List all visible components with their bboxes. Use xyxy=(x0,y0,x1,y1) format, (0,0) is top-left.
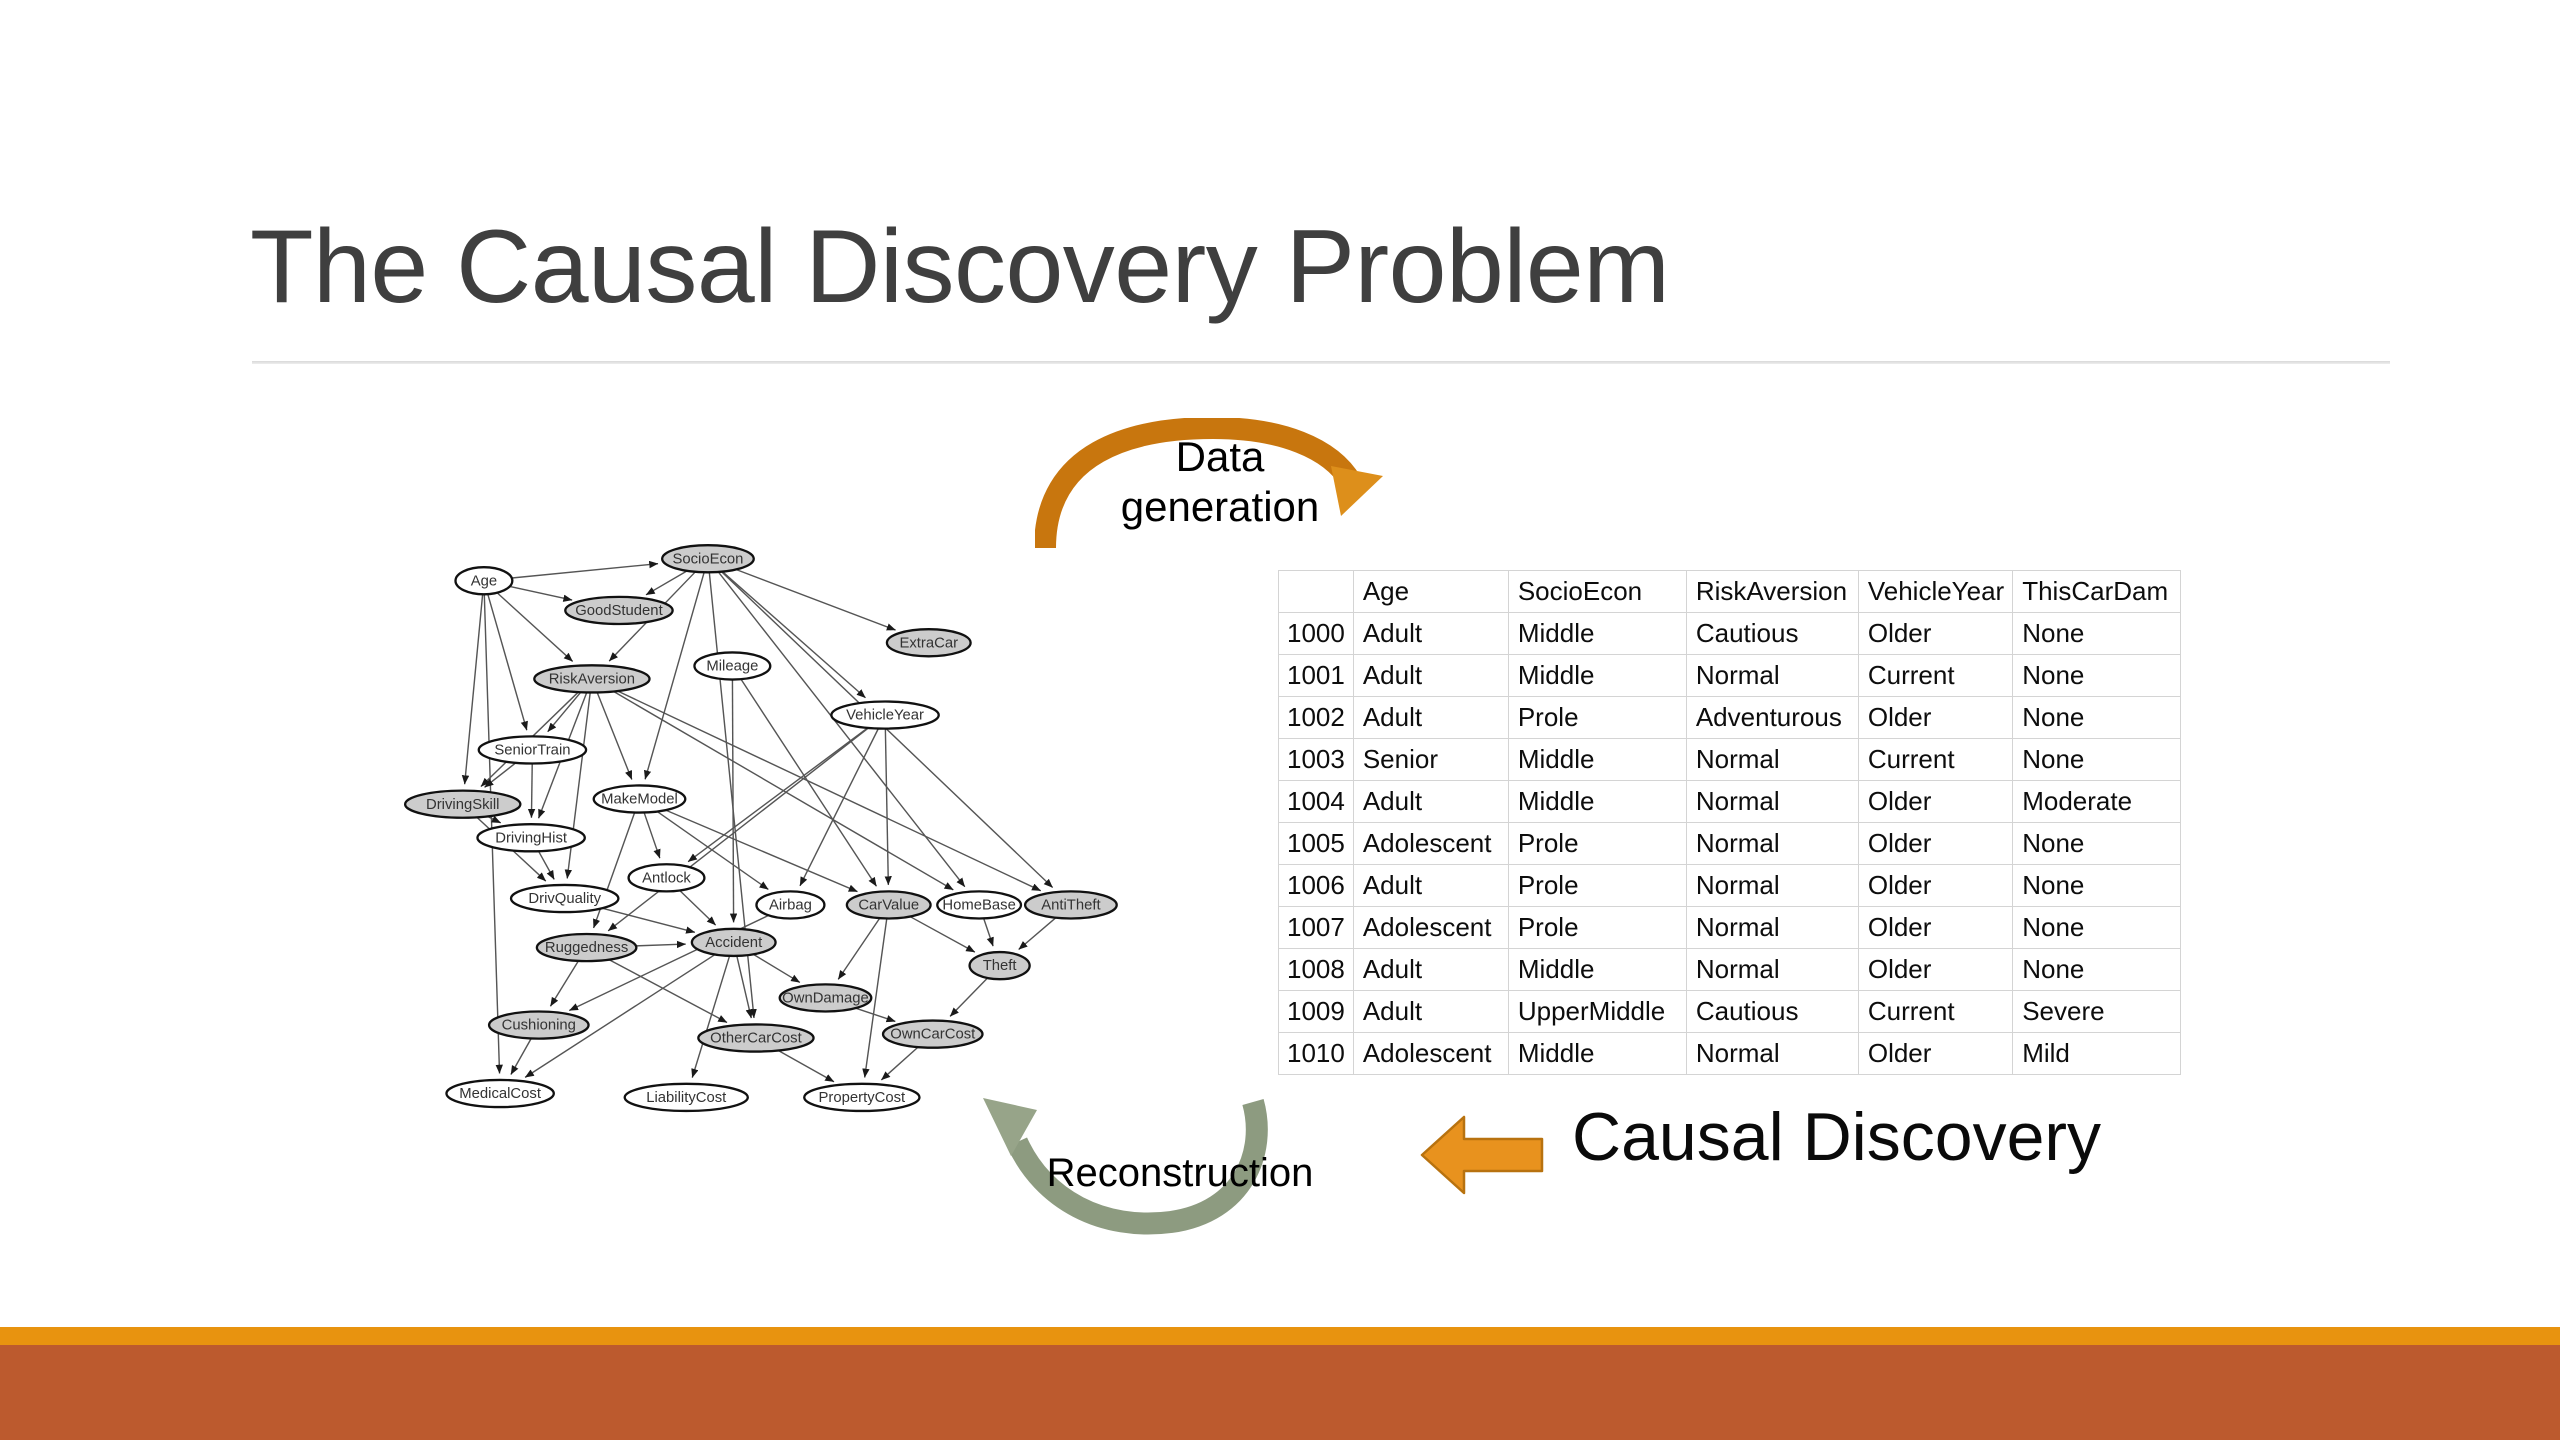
cell-age: Adolescent xyxy=(1353,823,1508,865)
cell-socioecon: Middle xyxy=(1508,781,1686,823)
graph-node-owndamage: OwnDamage xyxy=(780,984,872,1011)
title-underline-rule xyxy=(252,361,2390,364)
cell-vehicleyear: Older xyxy=(1858,781,2012,823)
graph-node-accident: Accident xyxy=(692,929,776,956)
left-block-arrow-icon xyxy=(1418,1113,1548,1198)
left-block-arrow-svg xyxy=(1418,1113,1548,1198)
column-header-index xyxy=(1279,571,1354,613)
cell-vehicleyear: Older xyxy=(1858,907,2012,949)
node-label: LiabilityCost xyxy=(646,1090,727,1106)
cell-age: Adult xyxy=(1353,949,1508,991)
graph-node-carvalue: CarValue xyxy=(847,891,931,918)
cell-vehicleyear: Older xyxy=(1858,697,2012,739)
node-label: SocioEcon xyxy=(672,551,743,567)
graph-edge xyxy=(736,569,896,630)
cell-vehicleyear: Older xyxy=(1858,613,2012,655)
table-row: 1003SeniorMiddleNormalCurrentNone xyxy=(1279,739,2181,781)
column-header-age: Age xyxy=(1353,571,1508,613)
cell-vehicleyear: Current xyxy=(1858,739,2012,781)
cell-thiscardam: Mild xyxy=(2013,1033,2181,1075)
row-index-cell: 1008 xyxy=(1279,949,1354,991)
column-header-riskaversion: RiskAversion xyxy=(1686,571,1858,613)
graph-edge xyxy=(602,908,695,932)
graph-edge xyxy=(548,692,581,732)
slide-canvas: The Causal Discovery Problem SocioEconAg… xyxy=(0,0,2560,1440)
graph-node-ruggedness: Ruggedness xyxy=(537,934,636,961)
cell-socioecon: Prole xyxy=(1508,865,1686,907)
cell-age: Adult xyxy=(1353,865,1508,907)
node-label: VehicleYear xyxy=(846,708,924,724)
graph-node-drivingskill: DrivingSkill xyxy=(405,791,520,818)
node-label: DrivingSkill xyxy=(426,797,499,813)
page-title: The Causal Discovery Problem xyxy=(250,208,1669,327)
cell-age: Adult xyxy=(1353,613,1508,655)
graph-edge xyxy=(550,961,578,1006)
cell-riskaversion: Normal xyxy=(1686,949,1858,991)
graph-edge xyxy=(732,680,733,923)
graph-edge xyxy=(680,890,716,925)
graph-edge xyxy=(753,954,799,982)
cell-thiscardam: None xyxy=(2013,739,2181,781)
node-label: RiskAversion xyxy=(549,671,635,687)
graph-node-antilock: Antlock xyxy=(629,864,705,891)
table-row: 1001AdultMiddleNormalCurrentNone xyxy=(1279,655,2181,697)
graph-node-extracar: ExtraCar xyxy=(887,629,971,656)
graph-node-mileage: Mileage xyxy=(694,652,770,679)
cell-age: Adult xyxy=(1353,655,1508,697)
cell-thiscardam: None xyxy=(2013,655,2181,697)
node-label: OwnCarCost xyxy=(890,1027,976,1043)
cell-socioecon: Prole xyxy=(1508,907,1686,949)
graph-edge xyxy=(1019,918,1056,950)
cell-age: Adult xyxy=(1353,991,1508,1033)
node-label: Airbag xyxy=(769,898,812,914)
node-label: MedicalCost xyxy=(459,1086,542,1102)
node-label: Ruggedness xyxy=(545,940,628,956)
graph-edge xyxy=(488,816,501,822)
graph-edge xyxy=(597,692,632,779)
cell-thiscardam: None xyxy=(2013,613,2181,655)
graph-node-homebase: HomeBase xyxy=(937,891,1021,918)
graph-edge xyxy=(856,1008,896,1021)
cell-socioecon: Middle xyxy=(1508,949,1686,991)
cell-socioecon: Prole xyxy=(1508,823,1686,865)
table-body: 1000AdultMiddleCautiousOlderNone1001Adul… xyxy=(1279,613,2181,1075)
row-index-cell: 1001 xyxy=(1279,655,1354,697)
node-label: MakeModel xyxy=(601,792,678,808)
node-label: DrivQuality xyxy=(528,891,601,907)
graph-node-owncarcost: OwnCarCost xyxy=(883,1021,982,1048)
node-label: Age xyxy=(471,573,497,589)
node-label: AntiTheft xyxy=(1041,898,1101,914)
node-label: OtherCarCost xyxy=(710,1031,802,1047)
table-row: 1009AdultUpperMiddleCautiousCurrentSever… xyxy=(1279,991,2181,1033)
table-row: 1000AdultMiddleCautiousOlderNone xyxy=(1279,613,2181,655)
graph-edge xyxy=(567,692,590,878)
graph-edge xyxy=(644,812,660,858)
graph-node-theft: Theft xyxy=(970,952,1030,979)
generated-data-table: Age SocioEcon RiskAversion VehicleYear T… xyxy=(1278,570,2181,1075)
cell-vehicleyear: Current xyxy=(1858,991,2012,1033)
cell-riskaversion: Normal xyxy=(1686,655,1858,697)
graph-node-age: Age xyxy=(456,567,513,594)
node-label: OwnDamage xyxy=(782,991,869,1007)
cell-thiscardam: None xyxy=(2013,907,2181,949)
node-label: Theft xyxy=(983,958,1018,974)
cell-socioecon: Middle xyxy=(1508,1033,1686,1075)
table-row: 1008AdultMiddleNormalOlderNone xyxy=(1279,949,2181,991)
cell-riskaversion: Normal xyxy=(1686,1033,1858,1075)
table-row: 1004AdultMiddleNormalOlderModerate xyxy=(1279,781,2181,823)
node-label: Accident xyxy=(705,935,763,951)
table-row: 1005AdolescentProleNormalOlderNone xyxy=(1279,823,2181,865)
row-index-cell: 1006 xyxy=(1279,865,1354,907)
row-index-cell: 1010 xyxy=(1279,1033,1354,1075)
graph-node-layer: SocioEconAgeGoodStudentExtraCarRiskAvers… xyxy=(405,545,1117,1111)
node-label: ExtraCar xyxy=(899,635,958,651)
table-row: 1007AdolescentProleNormalOlderNone xyxy=(1279,907,2181,949)
cell-riskaversion: Normal xyxy=(1686,781,1858,823)
cell-age: Adult xyxy=(1353,781,1508,823)
graph-node-seniortrain: SeniorTrain xyxy=(479,736,586,763)
cell-riskaversion: Normal xyxy=(1686,823,1858,865)
graph-node-makemodel: MakeModel xyxy=(594,785,686,812)
cell-riskaversion: Normal xyxy=(1686,907,1858,949)
graph-edge xyxy=(838,918,879,979)
footer-band-orange xyxy=(0,1327,2560,1345)
graph-edge xyxy=(531,764,532,818)
graph-edge xyxy=(618,691,1041,891)
row-index-cell: 1007 xyxy=(1279,907,1354,949)
table-row: 1006AdultProleNormalOlderNone xyxy=(1279,865,2181,907)
data-generation-label: Data generation xyxy=(1060,432,1380,532)
cell-socioecon: Middle xyxy=(1508,655,1686,697)
column-header-socioecon: SocioEcon xyxy=(1508,571,1686,613)
node-label: Cushioning xyxy=(502,1018,576,1034)
table-header-row: Age SocioEcon RiskAversion VehicleYear T… xyxy=(1279,571,2181,613)
cell-thiscardam: Moderate xyxy=(2013,781,2181,823)
graph-edge xyxy=(539,851,555,879)
cell-socioecon: Prole xyxy=(1508,697,1686,739)
graph-node-drivquality: DrivQuality xyxy=(511,885,618,912)
row-index-cell: 1005 xyxy=(1279,823,1354,865)
graph-edge xyxy=(636,944,686,946)
row-index-cell: 1004 xyxy=(1279,781,1354,823)
table-row: 1010AdolescentMiddleNormalOlderMild xyxy=(1279,1033,2181,1075)
causal-graph-svg: SocioEconAgeGoodStudentExtraCarRiskAvers… xyxy=(310,500,1190,1120)
cell-vehicleyear: Older xyxy=(1858,823,2012,865)
cell-riskaversion: Cautious xyxy=(1686,991,1858,1033)
column-header-thiscardam: ThisCarDam xyxy=(2013,571,2181,613)
causal-discovery-label: Causal Discovery xyxy=(1572,1098,2101,1176)
cell-thiscardam: None xyxy=(2013,949,2181,991)
graph-node-antitheft: AntiTheft xyxy=(1025,891,1117,918)
table-row: 1002AdultProleAdventurousOlderNone xyxy=(1279,697,2181,739)
graph-edge xyxy=(497,593,573,662)
cell-riskaversion: Cautious xyxy=(1686,613,1858,655)
graph-edge xyxy=(885,729,888,885)
graph-edge xyxy=(465,594,483,784)
cell-riskaversion: Normal xyxy=(1686,739,1858,781)
graph-node-goodstudent: GoodStudent xyxy=(565,597,672,624)
row-index-cell: 1000 xyxy=(1279,613,1354,655)
column-header-vehicleyear: VehicleYear xyxy=(1858,571,2012,613)
cell-thiscardam: None xyxy=(2013,865,2181,907)
cell-age: Adult xyxy=(1353,697,1508,739)
cell-thiscardam: None xyxy=(2013,697,2181,739)
cell-riskaversion: Adventurous xyxy=(1686,697,1858,739)
cell-vehicleyear: Older xyxy=(1858,865,2012,907)
node-label: DrivingHist xyxy=(495,830,568,846)
node-label: GoodStudent xyxy=(575,603,663,619)
node-label: HomeBase xyxy=(942,898,1015,914)
graph-node-cushioning: Cushioning xyxy=(489,1012,588,1039)
graph-edge xyxy=(646,571,687,595)
graph-edge xyxy=(609,960,727,1023)
footer-band-terracotta xyxy=(0,1345,2560,1440)
node-label: Mileage xyxy=(706,659,758,675)
reconstruction-label: Reconstruction xyxy=(1010,1148,1350,1198)
graph-edge xyxy=(881,1047,918,1080)
graph-edge xyxy=(950,978,987,1016)
graph-edge xyxy=(512,564,658,578)
graph-edge xyxy=(718,572,964,887)
node-label: Antlock xyxy=(642,870,691,886)
node-label: CarValue xyxy=(858,898,919,914)
graph-edge xyxy=(984,918,993,946)
cell-vehicleyear: Older xyxy=(1858,1033,2012,1075)
row-index-cell: 1003 xyxy=(1279,739,1354,781)
graph-edge xyxy=(510,586,572,600)
graph-node-vehicleyear: VehicleYear xyxy=(831,702,938,729)
graph-edge xyxy=(511,1038,531,1074)
graph-node-socioecon: SocioEcon xyxy=(662,545,754,572)
graph-node-propertycost: PropertyCost xyxy=(804,1084,919,1111)
cell-age: Senior xyxy=(1353,739,1508,781)
graph-edge xyxy=(778,1051,834,1082)
cell-thiscardam: None xyxy=(2013,823,2181,865)
row-index-cell: 1002 xyxy=(1279,697,1354,739)
cell-vehicleyear: Older xyxy=(1858,949,2012,991)
cell-thiscardam: Severe xyxy=(2013,991,2181,1033)
node-label: PropertyCost xyxy=(819,1090,906,1106)
graph-edge xyxy=(910,917,975,953)
cell-socioecon: Middle xyxy=(1508,613,1686,655)
graph-node-othercarcost: OtherCarCost xyxy=(698,1024,813,1051)
causal-graph-figure: SocioEconAgeGoodStudentExtraCarRiskAvers… xyxy=(310,500,1190,1120)
graph-edge xyxy=(608,728,868,931)
cell-riskaversion: Normal xyxy=(1686,865,1858,907)
cell-socioecon: Middle xyxy=(1508,739,1686,781)
graph-node-airbag: Airbag xyxy=(756,891,824,918)
graph-edge xyxy=(692,956,729,1078)
cell-vehicleyear: Current xyxy=(1858,655,2012,697)
graph-node-riskaversion: RiskAversion xyxy=(534,665,649,692)
cell-age: Adolescent xyxy=(1353,1033,1508,1075)
graph-node-medicalcost: MedicalCost xyxy=(446,1080,553,1107)
graph-node-liabilitycost: LiabilityCost xyxy=(625,1084,748,1111)
graph-edge xyxy=(688,728,868,862)
cell-age: Adolescent xyxy=(1353,907,1508,949)
graph-node-drivinghist: DrivingHist xyxy=(477,824,584,851)
row-index-cell: 1009 xyxy=(1279,991,1354,1033)
node-label: SeniorTrain xyxy=(494,743,570,759)
cell-socioecon: UpperMiddle xyxy=(1508,991,1686,1033)
